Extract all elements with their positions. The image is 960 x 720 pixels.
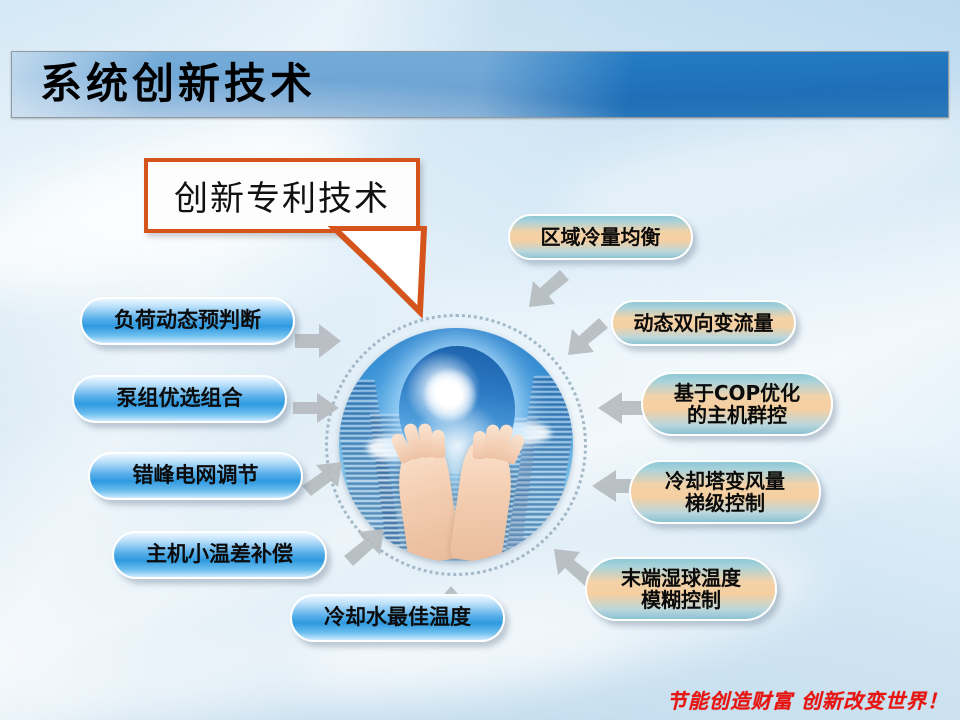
right-item-pill-1[interactable]: 区域冷量均衡 bbox=[508, 214, 693, 260]
callout-tail-icon bbox=[320, 226, 450, 321]
right-item-label-line1: 基于COP优化 bbox=[674, 382, 800, 404]
right-item-label-line2: 梯级控制 bbox=[665, 492, 785, 514]
globe-hands-image bbox=[339, 328, 573, 562]
slide-canvas: 系统创新技术 创新专利技术 bbox=[0, 0, 960, 720]
arrow-down-left-icon bbox=[566, 316, 610, 356]
left-item-label: 冷却水最佳温度 bbox=[324, 606, 471, 630]
title-banner: 系统创新技术 bbox=[11, 51, 949, 118]
right-item-label-line1: 冷却塔变风量 bbox=[665, 470, 785, 492]
left-item-label: 泵组优选组合 bbox=[117, 387, 243, 411]
arrow-right-icon bbox=[295, 324, 341, 358]
left-item-label: 负荷动态预判断 bbox=[114, 309, 261, 333]
footer-slogan: 节能创造财富 创新改变世界！ bbox=[667, 685, 948, 714]
left-item-label: 主机小温差补偿 bbox=[146, 543, 293, 567]
sun-glow-icon bbox=[423, 368, 477, 422]
right-item-pill-4[interactable]: 冷却塔变风量 梯级控制 bbox=[629, 460, 821, 524]
right-item-label-line2: 的主机群控 bbox=[674, 404, 800, 426]
right-item-pill-2[interactable]: 动态双向变流量 bbox=[611, 300, 796, 346]
right-item-label-line1: 末端湿球温度 bbox=[621, 567, 741, 589]
page-title: 系统创新技术 bbox=[40, 63, 316, 105]
right-item-label-line1: 区域冷量均衡 bbox=[541, 226, 661, 248]
left-item-label: 错峰电网调节 bbox=[133, 464, 259, 488]
left-item-pill-5[interactable]: 冷却水最佳温度 bbox=[290, 594, 505, 642]
left-item-pill-4[interactable]: 主机小温差补偿 bbox=[112, 531, 327, 579]
callout-box: 创新专利技术 bbox=[144, 158, 420, 233]
left-item-pill-1[interactable]: 负荷动态预判断 bbox=[80, 297, 295, 345]
arrow-up-right-icon bbox=[342, 528, 386, 568]
callout-label: 创新专利技术 bbox=[148, 162, 416, 229]
right-item-pill-3[interactable]: 基于COP优化 的主机群控 bbox=[641, 372, 833, 436]
right-item-label-line2: 模糊控制 bbox=[621, 589, 741, 611]
left-item-pill-3[interactable]: 错峰电网调节 bbox=[88, 452, 303, 500]
arrow-down-left-icon bbox=[527, 268, 571, 308]
arrow-up-right-icon bbox=[300, 462, 346, 498]
right-item-pill-5[interactable]: 末端湿球温度 模糊控制 bbox=[585, 557, 777, 621]
arrow-right-icon bbox=[293, 393, 339, 423]
right-item-label-line1: 动态双向变流量 bbox=[634, 312, 774, 334]
arrow-left-icon bbox=[598, 392, 646, 424]
left-item-pill-2[interactable]: 泵组优选组合 bbox=[72, 375, 287, 423]
